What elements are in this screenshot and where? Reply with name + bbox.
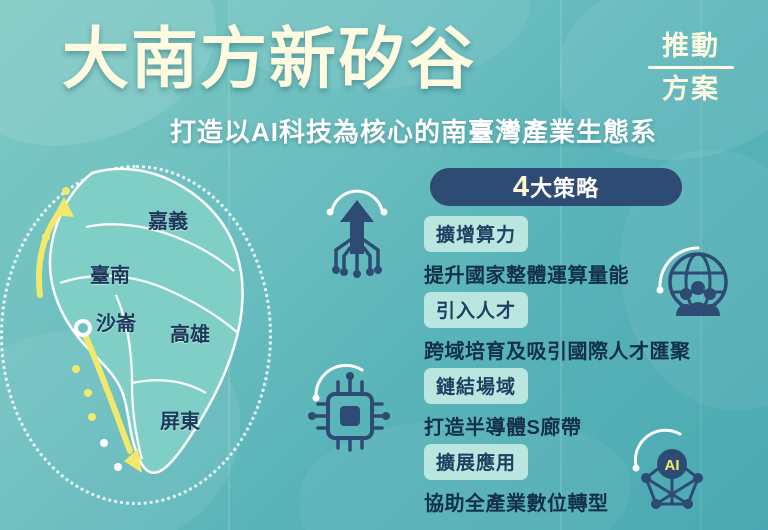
shalun-city-marker — [74, 319, 92, 337]
taiwan-map-panel: 嘉義 臺南 沙崙 高雄 屏東 — [0, 155, 300, 530]
strategy-desc-3: 打造半導體S廊帶 — [424, 411, 581, 440]
strategy-tag-3: 鏈結場域 — [424, 368, 528, 404]
map-dot-accent — [100, 439, 108, 447]
strategy-item-3[interactable]: 鏈結場域 打造半導體S廊帶 — [424, 368, 581, 440]
map-dot-accent — [114, 463, 122, 471]
title-block: 大南方新矽谷 推動 方案 — [56, 14, 736, 114]
cpu-arrow-icon — [314, 188, 400, 280]
strategy-desc-4: 協助全產業數位轉型 — [424, 487, 609, 516]
strategy-item-1[interactable]: 擴增算力 提升國家整體運算量能 — [424, 216, 629, 288]
strategy-count: 4 — [513, 171, 530, 203]
infographic-root: 大南方新矽谷 推動 方案 打造以AI科技為核心的南臺灣產業生態系 — [0, 0, 768, 530]
globe-people-icon — [652, 238, 744, 326]
strategy-desc-1: 提升國家整體運算量能 — [424, 259, 629, 288]
ai-network-icon: AI — [626, 424, 720, 516]
map-label-tainan: 臺南 — [90, 259, 130, 288]
strategy-heading: 4大策略 — [430, 168, 682, 206]
map-label-kaohsiung: 高雄 — [170, 318, 210, 347]
map-dot-accent — [84, 389, 92, 397]
map-label-pingtung: 屏東 — [160, 405, 200, 434]
strategy-tag-1: 擴增算力 — [424, 216, 528, 252]
map-label-chiayi: 嘉義 — [148, 205, 188, 234]
svg-text:AI: AI — [665, 457, 680, 474]
page-subtitle: 打造以AI科技為核心的南臺灣產業生態系 — [170, 112, 657, 149]
chip-icon — [304, 362, 396, 452]
map-label-shalun: 沙崙 — [96, 307, 136, 336]
strategy-tag-2: 引入人才 — [424, 292, 528, 328]
title-badge: 推動 方案 — [648, 30, 734, 106]
map-dot-accent — [72, 365, 80, 373]
title-badge-line1: 推動 — [648, 30, 734, 63]
strategy-desc-2: 跨域培育及吸引國際人才匯聚 — [424, 335, 691, 364]
title-badge-line2: 方案 — [648, 73, 734, 106]
map-dot-accent — [42, 233, 50, 241]
title-badge-rule — [648, 66, 734, 69]
strategy-item-4[interactable]: 擴展應用 協助全產業數位轉型 — [424, 444, 609, 516]
strategy-item-2[interactable]: 引入人才 跨域培育及吸引國際人才匯聚 — [424, 292, 691, 364]
map-dot-accent — [62, 187, 70, 195]
strategy-heading-suffix: 大策略 — [530, 176, 599, 201]
map-dot-accent — [88, 413, 96, 421]
page-title: 大南方新矽谷 — [62, 14, 476, 106]
strategy-tag-4: 擴展應用 — [424, 444, 528, 480]
